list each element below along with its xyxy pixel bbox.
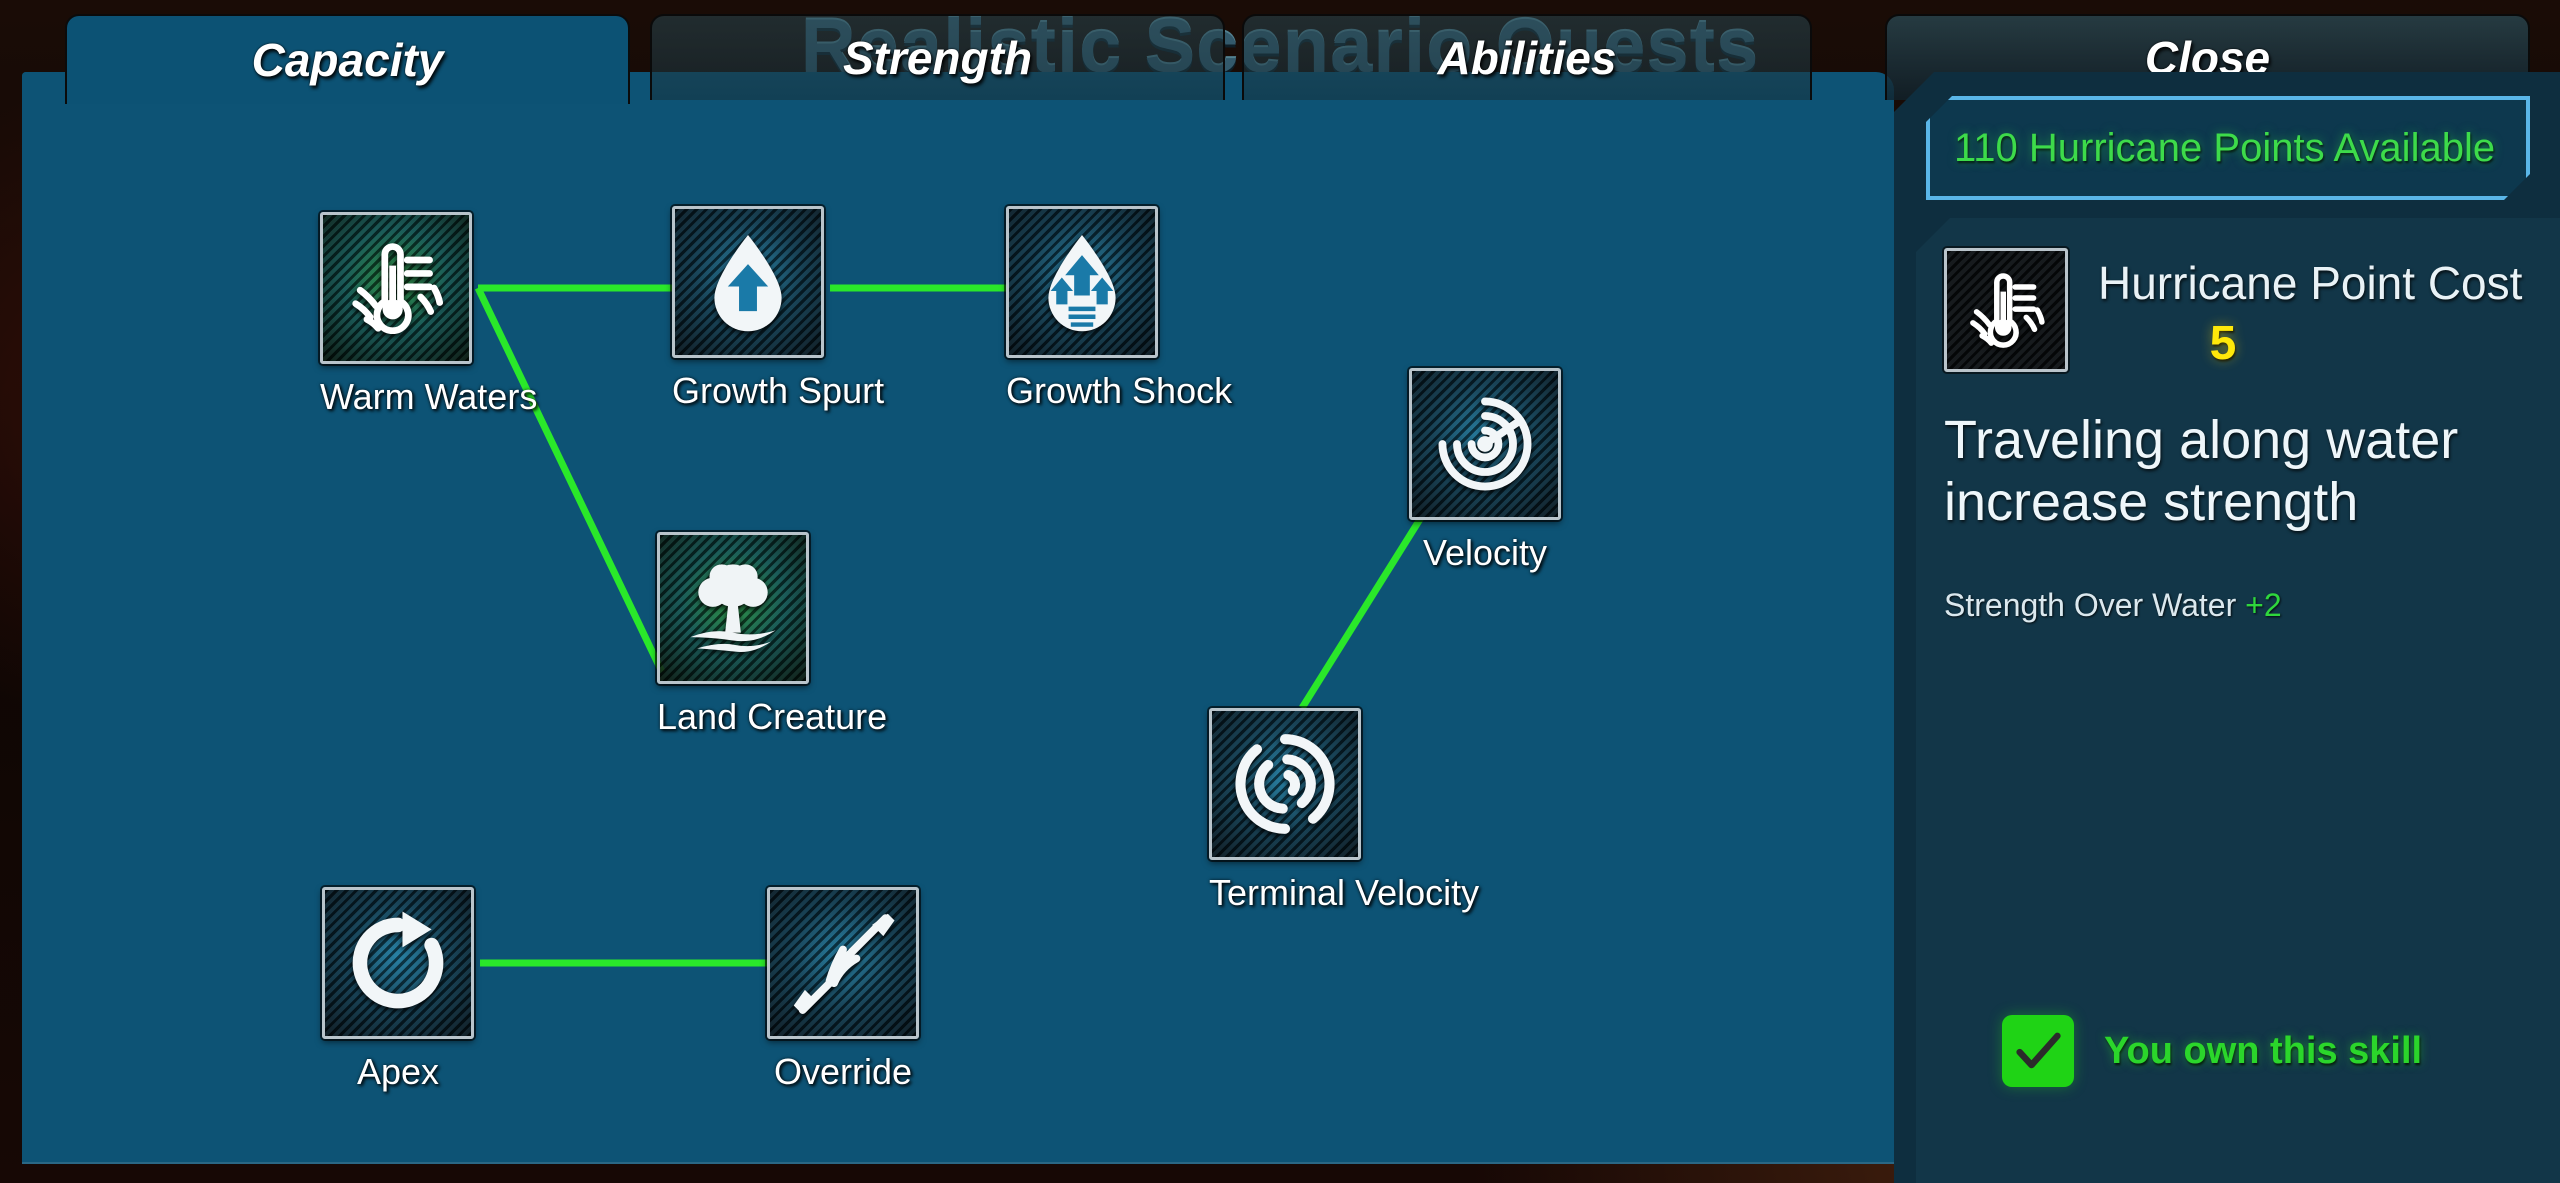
skill-detail-panel: 110 Hurricane Points Available <box>1894 72 2560 1183</box>
tab-strength-label: Strength <box>843 31 1032 85</box>
tab-abilities-label: Abilities <box>1438 31 1617 85</box>
hurricane-points-banner: 110 Hurricane Points Available <box>1926 96 2530 200</box>
skill-label-warm-waters: Warm Waters <box>320 376 472 418</box>
skill-tree-panel: Warm Waters Growth Spurt <box>22 72 1894 1164</box>
tab-capacity[interactable]: Capacity <box>65 14 630 104</box>
tab-strength[interactable]: Strength <box>650 14 1225 100</box>
hurricane-icon <box>1229 728 1341 840</box>
skill-node-override[interactable]: Override <box>767 887 919 1093</box>
thermometer-icon <box>1960 264 2052 356</box>
skill-node-growth-shock[interactable]: Growth Shock <box>1006 206 1158 412</box>
skill-label-land-creature: Land Creature <box>657 696 809 738</box>
override-icon-frame[interactable] <box>767 887 919 1039</box>
skill-label-override: Override <box>767 1051 919 1093</box>
skill-effect-label: Strength Over Water <box>1944 587 2236 623</box>
skill-node-apex[interactable]: Apex <box>322 887 474 1093</box>
circular-arrow-icon <box>342 907 454 1019</box>
link-warm-waters-land-creature <box>478 288 662 672</box>
skill-node-warm-waters[interactable]: Warm Waters <box>320 212 472 418</box>
owned-status-label: You own this skill <box>2104 1030 2422 1073</box>
skill-label-growth-spurt: Growth Spurt <box>672 370 824 412</box>
skill-node-terminal-velocity[interactable]: Terminal Velocity <box>1209 708 1361 914</box>
water-drop-up-icon <box>692 226 804 338</box>
owned-status-row: You own this skill <box>2002 1015 2422 1087</box>
tab-abilities[interactable]: Abilities <box>1242 14 1812 100</box>
cost-text-block: Hurricane Point Cost 5 <box>2098 248 2522 371</box>
radar-spiral-icon <box>1429 388 1541 500</box>
apex-icon-frame[interactable] <box>322 887 474 1039</box>
cost-value: 5 <box>2098 316 2348 371</box>
water-drop-triple-up-icon <box>1026 226 1138 338</box>
skill-label-terminal-velocity: Terminal Velocity <box>1209 872 1361 914</box>
cost-row: Hurricane Point Cost 5 <box>1944 248 2532 372</box>
game-window: Realistic Scenario Quests Capacity Stren… <box>0 0 2560 1183</box>
thermometer-icon <box>340 232 452 344</box>
skill-detail-card: Hurricane Point Cost 5 Traveling along w… <box>1916 218 2560 1183</box>
velocity-icon-frame[interactable] <box>1409 368 1561 520</box>
skill-link-layer <box>22 72 1894 1164</box>
selected-skill-icon-frame <box>1944 248 2068 372</box>
tab-capacity-label: Capacity <box>252 33 444 87</box>
link-terminal-velocity-velocity <box>1302 516 1422 708</box>
check-icon <box>2002 1015 2074 1087</box>
warm-waters-icon-frame[interactable] <box>320 212 472 364</box>
land-creature-icon-frame[interactable] <box>657 532 809 684</box>
terminal-velocity-icon-frame[interactable] <box>1209 708 1361 860</box>
skill-effect-row: Strength Over Water +2 <box>1944 587 2532 624</box>
hurricane-points-text: 110 Hurricane Points Available <box>1930 126 2495 171</box>
skill-node-land-creature[interactable]: Land Creature <box>657 532 809 738</box>
skill-label-growth-shock: Growth Shock <box>1006 370 1158 412</box>
tree-icon <box>677 552 789 664</box>
skill-description: Traveling along water increase strength <box>1944 410 2532 533</box>
growth-shock-icon-frame[interactable] <box>1006 206 1158 358</box>
skill-effect-bonus: +2 <box>2245 587 2281 623</box>
skill-node-velocity[interactable]: Velocity <box>1409 368 1561 574</box>
skill-label-velocity: Velocity <box>1409 532 1561 574</box>
growth-spurt-icon-frame[interactable] <box>672 206 824 358</box>
cost-label: Hurricane Point Cost <box>2098 256 2522 310</box>
skill-node-growth-spurt[interactable]: Growth Spurt <box>672 206 824 412</box>
skill-label-apex: Apex <box>322 1051 474 1093</box>
spear-wire-icon <box>787 907 899 1019</box>
